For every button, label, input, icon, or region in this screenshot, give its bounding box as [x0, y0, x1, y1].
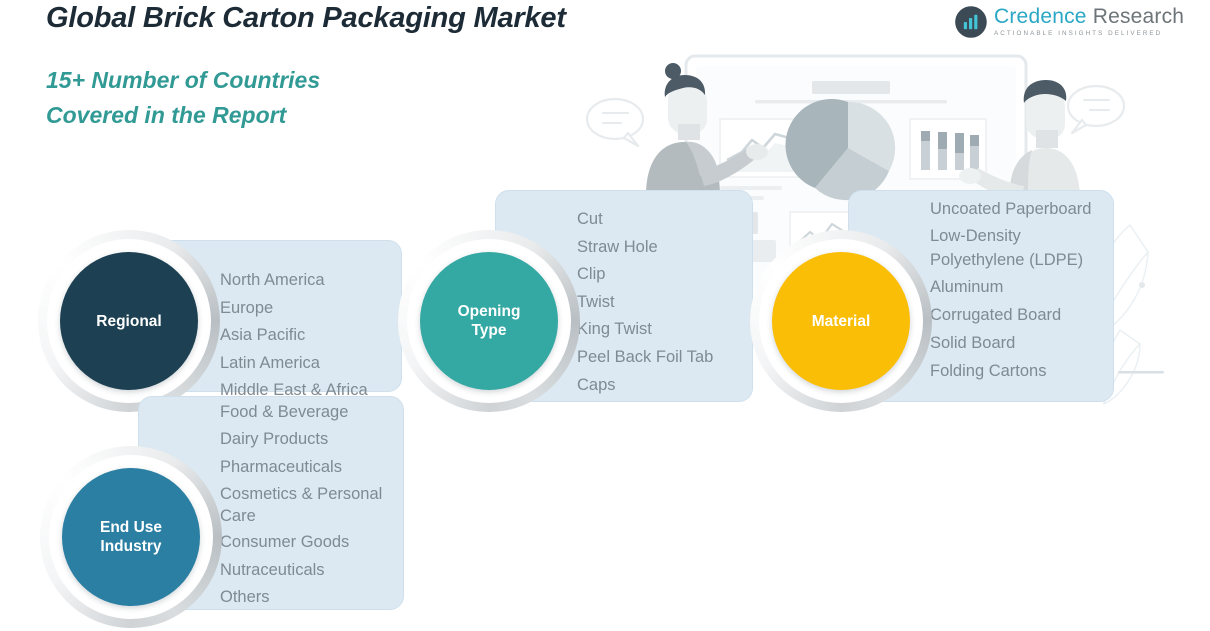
logo-name-primary: Credence [994, 5, 1087, 28]
list-item[interactable]: Dairy Products [220, 426, 391, 453]
list-item[interactable]: King Twist [577, 316, 740, 344]
bar-chart-circle-icon [955, 6, 987, 38]
list-item[interactable]: Others [220, 584, 391, 611]
list-item[interactable]: Cosmetics & Personal Care [220, 483, 391, 527]
subtitle-line-1: 15+ Number of Countries [46, 63, 320, 98]
speech-bubble-left-lines [603, 113, 628, 123]
list-item[interactable]: Straw Hole [577, 234, 740, 262]
list-item[interactable]: Clip [577, 261, 740, 289]
opening-type-label-line-2: Type [458, 321, 521, 340]
list-item[interactable]: Twist [577, 289, 740, 317]
end-use-label-line-2: Industry [100, 537, 162, 556]
end-use-label-line-1: End Use [100, 518, 162, 537]
list-item[interactable]: Low-Density Polyethylene (LDPE) [930, 224, 1101, 272]
opening-type-item-list: Cut Straw Hole Clip Twist King Twist Pee… [577, 206, 740, 399]
logo-name: Credence Research [994, 6, 1184, 27]
list-item[interactable]: Asia Pacific [220, 322, 389, 350]
opening-type-circle[interactable]: Opening Type [420, 252, 558, 390]
line-chart-card [720, 119, 800, 200]
material-item-list: Uncoated Paperboard Low-Density Polyethy… [930, 197, 1101, 383]
logo-name-secondary: Research [1093, 5, 1184, 28]
opening-type-circle-label: Opening Type [458, 302, 521, 340]
end-use-industry-circle-label: End Use Industry [100, 518, 162, 556]
brand-logo[interactable]: Credence Research Actionable Insights De… [955, 6, 1184, 38]
material-circle-label: Material [812, 312, 871, 331]
opening-type-label-line-1: Opening [458, 302, 521, 321]
end-use-industry-item-list: Food & Beverage Dairy Products Pharmaceu… [220, 399, 391, 611]
logo-text-block: Credence Research Actionable Insights De… [994, 6, 1184, 37]
regional-circle-label: Regional [96, 312, 161, 331]
bar-chart-card [910, 119, 986, 179]
end-use-industry-circle[interactable]: End Use Industry [62, 468, 200, 606]
list-item[interactable]: Solid Board [930, 331, 1101, 355]
list-item[interactable]: Aluminum [930, 275, 1101, 299]
material-circle[interactable]: Material [772, 252, 910, 390]
infographic-canvas: Global Brick Carton Packaging Market 15+… [0, 0, 1210, 631]
list-item[interactable]: Latin America [220, 350, 389, 378]
page-subtitle: 15+ Number of Countries Covered in the R… [46, 63, 320, 133]
list-item[interactable]: Pharmaceuticals [220, 454, 391, 481]
regional-item-list: North America Europe Asia Pacific Latin … [220, 267, 389, 405]
list-item[interactable]: Folding Cartons [930, 359, 1101, 383]
ground-line-right [1118, 371, 1164, 374]
list-item[interactable]: Consumer Goods [220, 529, 391, 556]
list-item[interactable]: North America [220, 267, 389, 295]
list-item[interactable]: Cut [577, 206, 740, 234]
logo-tagline: Actionable Insights Delivered [994, 31, 1184, 37]
page-title: Global Brick Carton Packaging Market [46, 2, 566, 35]
list-item[interactable]: Food & Beverage [220, 399, 391, 426]
list-item[interactable]: Uncoated Paperboard [930, 197, 1101, 221]
list-item[interactable]: Europe [220, 295, 389, 323]
list-item[interactable]: Caps [577, 372, 740, 400]
list-item[interactable]: Peel Back Foil Tab [577, 344, 740, 372]
subtitle-line-2: Covered in the Report [46, 98, 320, 133]
list-item[interactable]: Nutraceuticals [220, 557, 391, 584]
list-item[interactable]: Corrugated Board [930, 303, 1101, 327]
speech-bubble-left-icon [587, 99, 643, 146]
speech-bubble-right-icon [1068, 86, 1124, 133]
leaf-dot [1139, 282, 1145, 288]
speech-bubble-right-lines [1084, 100, 1109, 110]
pie-chart [785, 99, 895, 200]
regional-circle[interactable]: Regional [60, 252, 198, 390]
